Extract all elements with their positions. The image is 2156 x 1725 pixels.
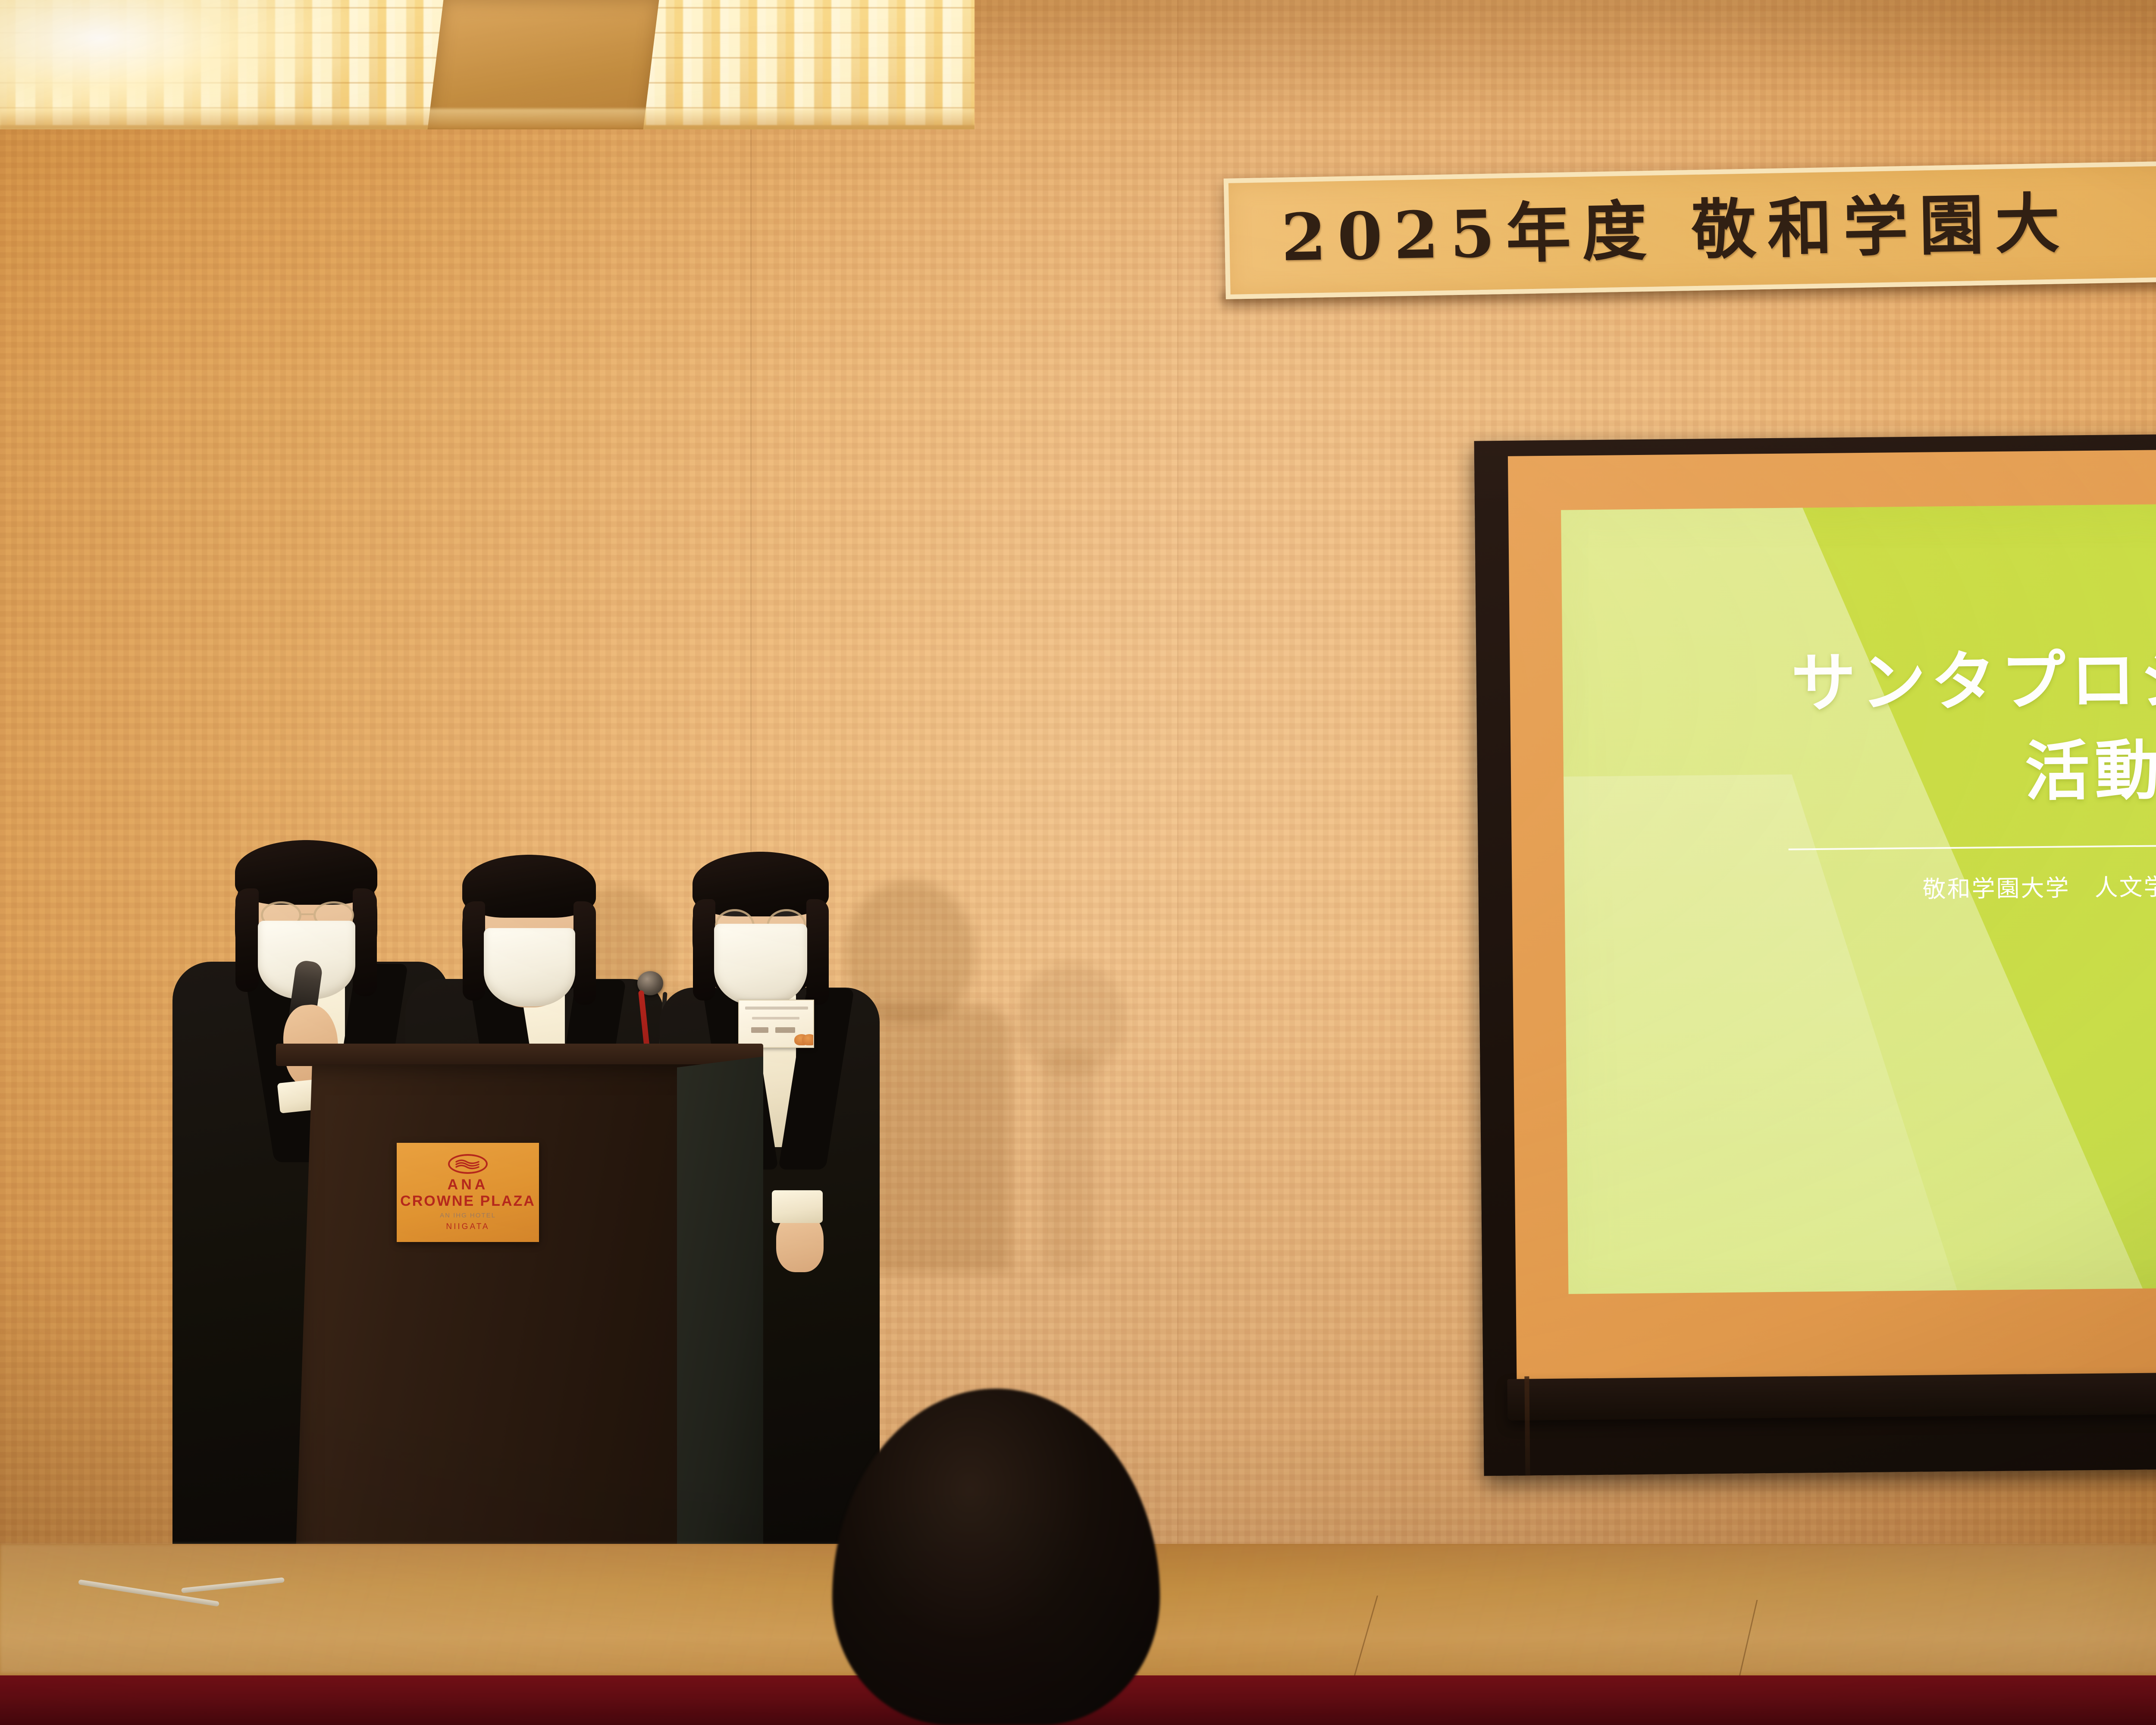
speaker-center-face-mask xyxy=(484,928,575,1007)
podium: ANA CROWNE PLAZA AN IHG HOTEL NIIGATA xyxy=(276,1044,763,1604)
speaker-right-nametag xyxy=(738,1000,814,1048)
slide-title-line2: 活動報告 xyxy=(2024,736,2156,806)
slide-divider xyxy=(1789,840,2156,850)
ceiling-rim xyxy=(0,109,975,129)
plaque-line-ana: ANA xyxy=(448,1177,489,1192)
microphone-stand-shadow xyxy=(1044,1048,1095,1272)
screen-leg xyxy=(1524,1377,1530,1476)
plaque-line-niigata: NIIGATA xyxy=(446,1223,489,1231)
projection-screen: サンタプロジェク 活動報告 敬和学園大学 人文学部 共生社会学 共生社会学 国際… xyxy=(1474,430,2156,1476)
speaker-right-hair-side xyxy=(693,899,715,1000)
speaker-left-hair-side xyxy=(235,888,259,992)
speaker-right-hair-side xyxy=(806,899,829,1005)
speaker-right-face-mask xyxy=(714,924,807,1006)
venue-plaque: ANA CROWNE PLAZA AN IHG HOTEL NIIGATA xyxy=(397,1143,539,1242)
plaque-line-ihg-hotel: AN IHG HOTEL xyxy=(440,1212,496,1219)
ceiling xyxy=(0,0,975,129)
podium-side-panel xyxy=(677,1057,763,1600)
presentation-scene: 2025年度 敬和学園大 サンタプロジェク 活動報告 敬和学園大学 人文学部 共… xyxy=(0,0,2156,1725)
ana-wave-logo-icon xyxy=(448,1154,488,1174)
speaker-center-hair-side xyxy=(573,901,596,1005)
podium-top xyxy=(276,1044,763,1066)
banner-text: 2025年度 敬和学園大 xyxy=(1281,191,2071,270)
slide-title-line1: サンタプロジェク xyxy=(1791,645,2156,718)
slide-content: サンタプロジェク 活動報告 敬和学園大学 人文学部 共生社会学 共生社会学 国際… xyxy=(1561,499,2156,1294)
slide-subtitle-line1: 敬和学園大学 人文学部 共生社会学 xyxy=(1922,869,2156,906)
speaker-right-cuff xyxy=(772,1190,823,1223)
speaker-left-hair-side xyxy=(353,888,377,996)
presentation-slide: サンタプロジェク 活動報告 敬和学園大学 人文学部 共生社会学 共生社会学 国際… xyxy=(1561,499,2156,1294)
speaker-center-hair-side xyxy=(463,901,485,1000)
plaque-line-crowne-plaza: CROWNE PLAZA xyxy=(400,1194,536,1209)
